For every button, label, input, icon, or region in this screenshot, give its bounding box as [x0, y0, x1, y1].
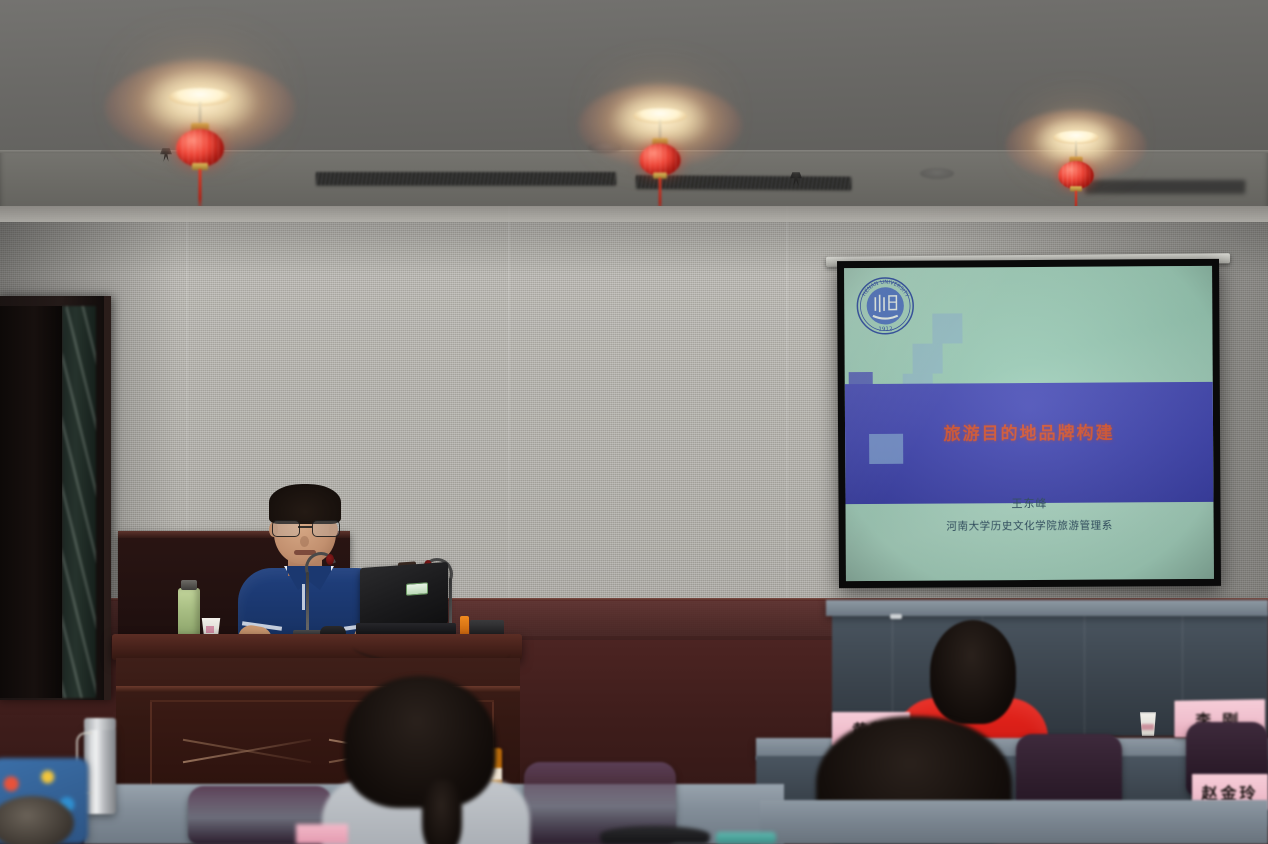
- bottle-cap: [181, 580, 197, 590]
- laptop-sticker: [406, 582, 428, 596]
- laptop-lid: [360, 562, 448, 630]
- microphone-stem: [306, 572, 309, 634]
- pink-paper: [296, 824, 348, 844]
- cup-decoration: [206, 626, 214, 633]
- dark-object-foreground: [600, 826, 710, 844]
- eyeglass-lens: [312, 520, 340, 537]
- hvac-vent: [316, 172, 616, 185]
- eyeglass-lens: [272, 520, 300, 537]
- pen-on-table: [890, 614, 902, 619]
- hvac-vent: [636, 175, 851, 190]
- ceiling-fixture-icon: [920, 168, 954, 179]
- thermos-lid: [84, 718, 116, 730]
- teal-object-foreground: [716, 832, 776, 844]
- slide-affiliation: 河南大学历史文化学院旅游管理系: [846, 517, 1214, 534]
- slide-surface: 1912 HENAN UNIVERSITY 旅游目的地品牌构建 王东峰 河南大学…: [844, 266, 1214, 581]
- slide-decor-square: [932, 313, 962, 343]
- projection-screen: 1912 HENAN UNIVERSITY 旅游目的地品牌构建 王东峰 河南大学…: [837, 259, 1221, 588]
- slide-decor-square: [913, 344, 943, 374]
- logo-year: 1912: [878, 327, 892, 333]
- lantern-tassel: [199, 169, 202, 211]
- silver-thermos: [84, 726, 116, 814]
- red-lantern-icon: [1058, 161, 1094, 189]
- speaker-placket: [302, 584, 305, 610]
- attendee-hair: [930, 620, 1016, 724]
- attendee-hair: [344, 676, 496, 808]
- door-leaf[interactable]: [0, 306, 62, 698]
- eyeglass-bridge: [298, 526, 312, 528]
- speaker-nose: [300, 536, 309, 547]
- eyeglasses-icon: [272, 520, 338, 535]
- henan-university-logo-icon: 1912 HENAN UNIVERSITY: [854, 275, 916, 337]
- door-opening: [62, 306, 96, 698]
- red-lantern-icon: [176, 129, 224, 167]
- laptop[interactable]: [360, 565, 452, 637]
- hvac-vent: [1085, 180, 1245, 193]
- cup-decoration: [1141, 724, 1154, 730]
- slide-decor-square: [869, 434, 903, 464]
- water-bottle: [178, 588, 200, 638]
- slide-presenter-name: 王东峰: [845, 494, 1213, 512]
- wall-top-band: [0, 206, 1268, 222]
- attendee-grey-top: [318, 676, 534, 844]
- red-lantern-icon: [639, 143, 680, 176]
- attendee-ponytail: [422, 780, 462, 844]
- microphone-head-icon: [326, 554, 334, 565]
- lecture-hall-photo: 1912 HENAN UNIVERSITY 旅游目的地品牌构建 王东峰 河南大学…: [0, 0, 1268, 844]
- foreground-table-right: [760, 800, 1268, 844]
- speaker-hair: [269, 484, 341, 524]
